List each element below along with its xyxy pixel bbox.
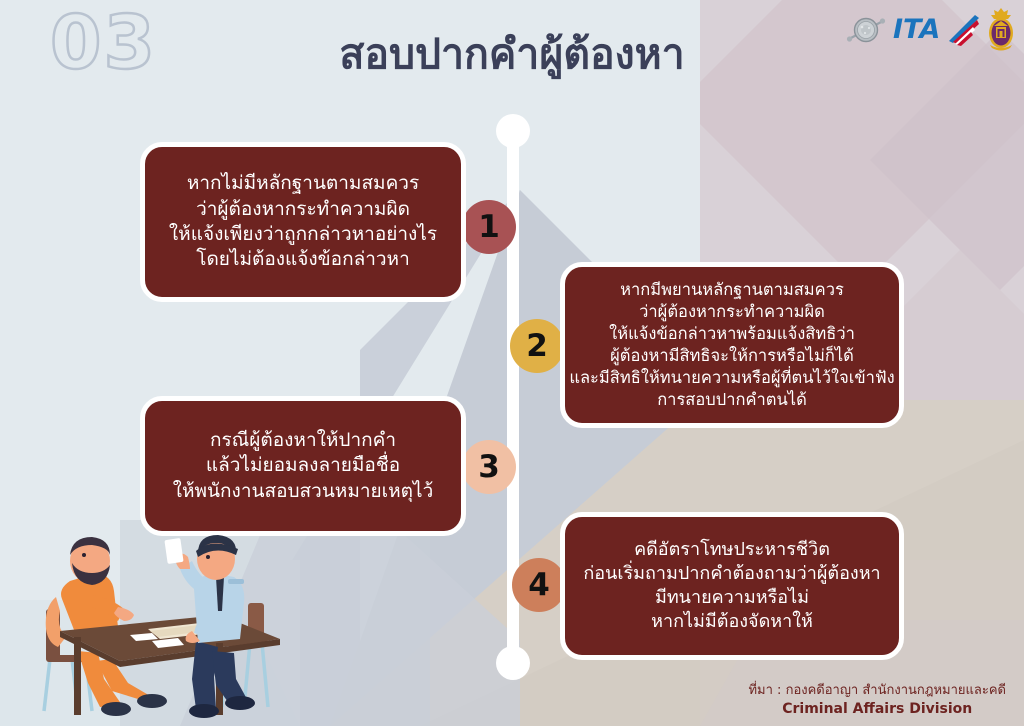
step-2-line-3: ให้แจ้งข้อกล่าวหาพร้อมแจ้งสิทธิว่า [609,323,855,345]
timeline-cap-bottom [496,646,530,680]
step-2-line-4: ผู้ต้องหามีสิทธิจะให้การหรือไม่ก็ได้ [610,345,854,367]
step-4-line-3: มีทนายความหรือไม่ [655,586,809,610]
police-seal-icon [846,9,886,49]
step-2-line-2: ว่าผู้ต้องหากระทำความผิด [639,301,825,323]
step-1-line-3: ให้แจ้งเพียงว่าถูกกล่าวหาอย่างไร [169,222,437,247]
step-2-line-6: การสอบปากคำตนได้ [657,389,807,411]
step-4-line-2: ก่อนเริ่มถามปากคำต้องถามว่าผู้ต้องหา [583,562,880,586]
step-1-line-2: ว่าผู้ต้องหากระทำความผิด [196,197,410,222]
step-2-line-1: หากมีพยานหลักฐานตามสมควร [620,279,844,301]
source-credit: ที่มา : กองคดีอาญา สำนักงานกฎหมายและคดี … [748,681,1006,720]
step-marker-2[interactable]: 2 [510,319,564,373]
step-marker-1[interactable]: 1 [462,200,516,254]
step-marker-4[interactable]: 4 [512,558,566,612]
source-english: Criminal Affairs Division [748,700,1006,720]
step-3-line-2: แล้วไม่ยอมลงลายมือชื่อ [206,453,400,478]
step-box-4[interactable]: คดีอัตราโทษประหารชีวิต ก่อนเริ่มถามปากคำ… [560,512,904,660]
royal-thai-police-emblem-icon [986,7,1016,51]
step-3-line-1: กรณีผู้ต้องหาให้ปากคำ [210,428,396,453]
interrogation-scene-illustration [0,511,300,726]
step-box-1[interactable]: หากไม่มีหลักฐานตามสมควร ว่าผู้ต้องหากระท… [140,142,466,302]
logo-group: ITA [846,7,1016,51]
step-marker-3[interactable]: 3 [462,440,516,494]
step-4-line-1: คดีอัตราโทษประหารชีวิต [634,538,830,562]
step-box-2[interactable]: หากมีพยานหลักฐานตามสมควร ว่าผู้ต้องหากระ… [560,262,904,428]
ita-logo-text: ITA [893,14,940,45]
source-thai: ที่มา : กองคดีอาญา สำนักงานกฎหมายและคดี [748,681,1006,701]
step-1-line-1: หากไม่มีหลักฐานตามสมควร [187,171,419,196]
step-3-line-3: ให้พนักงานสอบสวนหมายเหตุไว้ [173,479,434,504]
step-2-line-5: และมีสิทธิให้ทนายความหรือผู้ที่ตนไว้ใจเข… [569,367,894,389]
step-4-line-4: หากไม่มีต้องจัดหาให้ [651,610,813,634]
ita-logo: ITA [893,11,979,47]
step-1-line-4: โดยไม่ต้องแจ้งข้อกล่าวหา [196,247,410,272]
